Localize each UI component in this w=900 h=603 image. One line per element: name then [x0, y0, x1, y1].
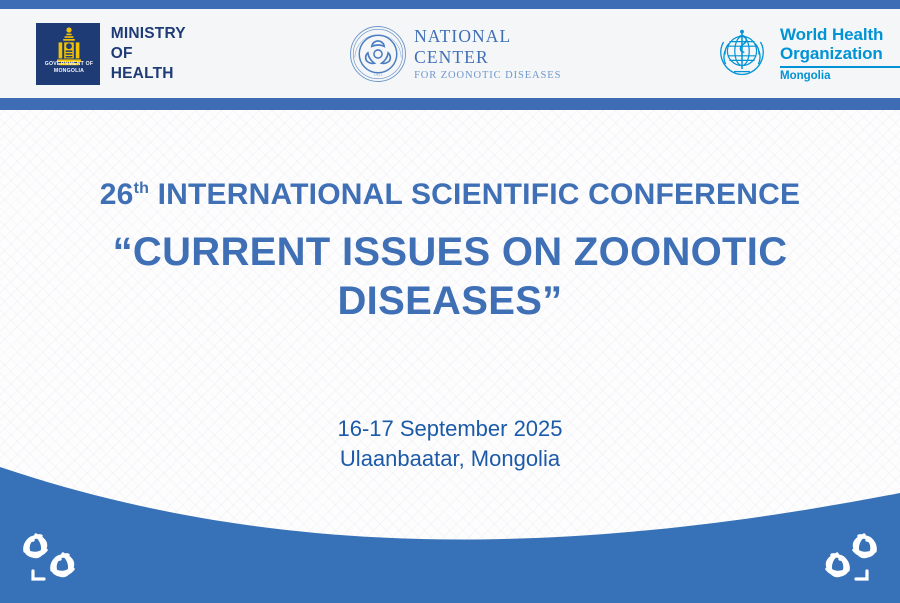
- ministry-of-health-name: MINISTRY OF HEALTH: [111, 24, 197, 84]
- nczd-name-line1: NATIONAL CENTER: [414, 26, 585, 68]
- top-accent-bar: [0, 0, 900, 9]
- emblem-caption-line1: GOVERNMENT OF: [36, 61, 102, 68]
- who-name-line1: World Health: [780, 25, 900, 44]
- page-title-line2: DISEASES”: [100, 277, 800, 326]
- logo-ministry-of-health: GOVERNMENT OF MONGOLIA MINISTRY OF HEALT…: [36, 23, 197, 85]
- conference-title-slide: GOVERNMENT OF MONGOLIA MINISTRY OF HEALT…: [0, 0, 900, 603]
- who-emblem-icon: [713, 27, 771, 81]
- who-name: World Health Organization Mongolia: [780, 25, 900, 82]
- who-country-label: Mongolia: [780, 70, 900, 82]
- nczd-name-line2: FOR ZOONOTIC DISEASES: [414, 70, 585, 81]
- page-title: “CURRENT ISSUES ON ZOONOTIC DISEASES”: [100, 228, 800, 326]
- conference-subtitle: 26th INTERNATIONAL SCIENTIFIC CONFERENCE: [0, 178, 900, 212]
- conference-subtitle-text: INTERNATIONAL SCIENTIFIC CONFERENCE: [158, 178, 801, 211]
- triquetra-knot-ornament-right: [804, 527, 886, 589]
- logo-world-health-organization: World Health Organization Mongolia: [713, 25, 900, 82]
- emblem-caption: GOVERNMENT OF MONGOLIA: [36, 61, 102, 75]
- event-dates: 16-17 September 2025: [0, 414, 900, 444]
- logo-national-center-zoonotic-diseases: 1951 NATIONAL CENTER FOR ZOONOTIC DISEAS…: [349, 24, 585, 84]
- ministry-name-line1: MINISTRY: [111, 24, 197, 44]
- logo-row: GOVERNMENT OF MONGOLIA MINISTRY OF HEALT…: [0, 9, 900, 98]
- conference-ordinal-suffix: th: [134, 180, 150, 197]
- page-title-line1: “CURRENT ISSUES ON ZOONOTIC: [100, 228, 800, 277]
- header-divider-bar: [0, 98, 900, 110]
- conference-number: 26: [100, 178, 134, 211]
- seal-year: 1951: [374, 71, 383, 76]
- wave-blue-layer: [0, 467, 900, 603]
- who-divider: [780, 66, 900, 68]
- nczd-name: NATIONAL CENTER FOR ZOONOTIC DISEASES: [414, 26, 585, 81]
- emblem-caption-line2: MONGOLIA: [36, 68, 102, 75]
- zoonotic-seal-icon: 1951: [349, 24, 407, 84]
- triquetra-knot-ornament-left: [14, 527, 96, 589]
- footer-wave-band: [0, 463, 900, 603]
- ministry-name-line2: OF HEALTH: [111, 44, 197, 84]
- mongolia-government-emblem: GOVERNMENT OF MONGOLIA: [36, 23, 100, 85]
- who-name-line2: Organization: [780, 44, 900, 63]
